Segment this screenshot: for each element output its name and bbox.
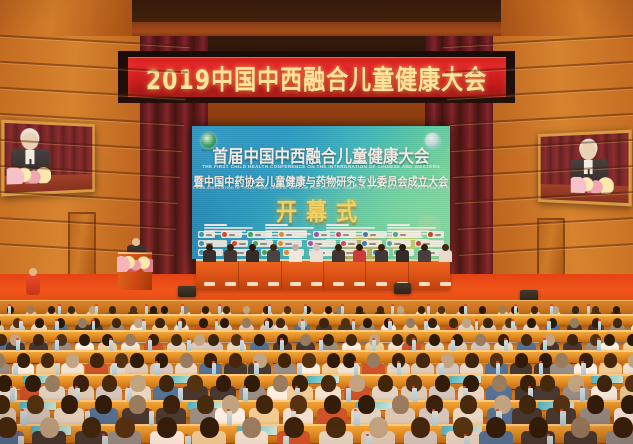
- panelist-head: [421, 244, 428, 251]
- water-bottle: [475, 321, 479, 330]
- audience-member-head: [229, 353, 242, 367]
- water-bottle: [597, 340, 601, 351]
- audience-member-head: [35, 318, 44, 328]
- panelist-nameplate: [204, 282, 215, 286]
- panelist-nameplate: [225, 282, 236, 286]
- panelist-head: [335, 244, 342, 251]
- panelist-nameplate: [376, 282, 387, 286]
- audience-member-head: [61, 395, 79, 414]
- water-bottle: [142, 321, 146, 330]
- water-bottle: [547, 436, 553, 444]
- audience-member-head: [66, 353, 79, 367]
- audience-member-head: [418, 306, 425, 314]
- water-bottle: [185, 436, 191, 444]
- panelist-head: [292, 244, 299, 251]
- audience-member-head: [462, 318, 471, 328]
- water-bottle: [148, 340, 152, 351]
- audience-member-head: [613, 318, 622, 328]
- credit-column-heading: [204, 224, 227, 226]
- water-bottle: [412, 340, 416, 351]
- overhead-banner: 2019中国中西融合儿童健康大会: [118, 51, 515, 103]
- credit-line: [387, 227, 436, 229]
- audience-member-head: [531, 306, 538, 314]
- water-bottle: [547, 321, 551, 330]
- audience-member-head: [369, 417, 389, 438]
- head-table-panelist: [352, 244, 367, 262]
- audience-member-head: [453, 417, 473, 438]
- audience-member-head: [33, 334, 44, 346]
- head-table-panelist: [417, 244, 432, 262]
- audience-member-head: [587, 395, 605, 414]
- audience-member-head: [449, 318, 458, 328]
- audience-member-head: [79, 334, 90, 346]
- water-bottle: [539, 363, 544, 375]
- audience-member: [319, 417, 353, 444]
- panelist-head: [442, 244, 449, 251]
- audience-member-head: [102, 375, 117, 392]
- aisle-staff-member: [26, 268, 40, 298]
- audience-member-head: [465, 353, 478, 367]
- audience-member-head: [341, 318, 350, 328]
- panelist-nameplate: [311, 282, 322, 286]
- audience-member-head: [349, 375, 364, 392]
- panelist-body: [246, 250, 259, 262]
- audience-member-head: [199, 318, 208, 328]
- credit-line: [265, 227, 314, 229]
- audience-member-head: [438, 306, 445, 314]
- head-table-panelist: [395, 244, 410, 262]
- audience-member-head: [82, 417, 102, 438]
- audience-member-head: [243, 306, 250, 314]
- audience-member-head: [115, 417, 135, 438]
- audience-member-head: [397, 306, 404, 314]
- main-led-screen: 中国中药协会 首届中国中西融合儿童健康大会 THE FIRST CHILD HE…: [192, 126, 450, 259]
- audience-member-head: [613, 417, 633, 438]
- audience-member-head: [68, 306, 75, 314]
- audience-member-head: [187, 375, 202, 392]
- water-bottle: [598, 321, 602, 330]
- audience-member-head: [411, 417, 431, 438]
- panelist-head: [249, 244, 256, 251]
- audience-member-head: [572, 306, 579, 314]
- water-bottle: [18, 436, 24, 444]
- audience-member-head: [109, 306, 116, 314]
- water-bottle: [341, 306, 344, 314]
- panelist-body: [418, 250, 431, 262]
- audience-member-head: [521, 334, 532, 346]
- water-bottle: [215, 321, 219, 330]
- audience-member-head: [392, 395, 410, 414]
- water-bottle: [511, 321, 515, 330]
- panelist-body: [375, 250, 388, 262]
- side-projection-screen-left: [1, 120, 95, 197]
- panelist-nameplate: [333, 282, 344, 286]
- audience-member-head: [130, 375, 145, 392]
- audience-desk-row: [0, 330, 633, 342]
- audience-member: [479, 417, 513, 444]
- podium-speaker-head: [132, 238, 140, 246]
- audience-member-head: [242, 417, 262, 438]
- water-bottle: [301, 321, 305, 330]
- audience-member: [564, 417, 598, 444]
- panelist-body: [289, 250, 302, 262]
- audience-member-head: [604, 353, 617, 367]
- water-bottle: [58, 306, 61, 314]
- audience-member-head: [180, 353, 193, 367]
- water-bottle: [304, 306, 307, 314]
- audience-member-head: [27, 306, 34, 314]
- audience-member-head: [416, 353, 429, 367]
- audience-member-head: [367, 353, 380, 367]
- water-bottle: [352, 321, 356, 330]
- water-bottle: [514, 306, 517, 314]
- podium-flower-arrangement: [117, 256, 153, 272]
- audience-member-head: [346, 334, 357, 346]
- audience-member-head: [627, 334, 633, 346]
- credit-column-heading: [265, 224, 288, 226]
- audience-member-head: [571, 417, 591, 438]
- audience-member-head: [27, 395, 45, 414]
- audience-member-head: [125, 334, 136, 346]
- head-table-panelist: [331, 244, 346, 262]
- audience-member-head: [254, 334, 265, 346]
- audience-member-head: [278, 353, 291, 367]
- water-bottle: [372, 340, 376, 351]
- water-bottle: [8, 306, 11, 314]
- conference-title-en: THE FIRST CHILD HEALTH CONFERENCE ON THE…: [192, 164, 450, 169]
- panelist-body: [353, 250, 366, 262]
- water-bottle: [550, 306, 553, 314]
- panelist-body: [439, 250, 452, 262]
- head-table-panelist: [438, 244, 453, 262]
- water-bottle: [297, 363, 302, 375]
- audience-member-head: [319, 318, 328, 328]
- table-seam: [323, 261, 324, 289]
- audience-member-head: [625, 375, 633, 392]
- audience-member: [235, 417, 269, 444]
- conference-subtitle-en: CHINA ASSOCIATION OF TRADITIONAL CHINESE…: [192, 186, 450, 190]
- water-bottle: [354, 411, 360, 426]
- audience-member-head: [220, 318, 229, 328]
- water-bottle: [145, 306, 148, 314]
- sponsor-logo: [335, 231, 356, 238]
- audience-member-head: [519, 395, 537, 414]
- audience-member-head: [529, 417, 549, 438]
- head-table-panelist: [245, 244, 260, 262]
- water-bottle: [427, 306, 430, 314]
- audience-member-head: [460, 395, 478, 414]
- panelist-body: [203, 250, 216, 262]
- water-bottle: [265, 321, 269, 330]
- audience-member-head: [325, 306, 332, 314]
- ceiling-inner-panel: [128, 0, 505, 24]
- audience-member-head: [242, 318, 251, 328]
- audience-member-head: [197, 395, 215, 414]
- sponsor-logo-row: [198, 231, 444, 238]
- audience-member: [32, 417, 66, 444]
- water-bottle: [187, 340, 191, 351]
- panelist-body: [224, 250, 237, 262]
- head-table-panelist: [223, 244, 238, 262]
- sponsor-logo: [198, 231, 215, 238]
- audience-member-head: [356, 306, 363, 314]
- water-bottle: [496, 363, 501, 375]
- audience-member-head: [429, 334, 440, 346]
- water-bottle: [397, 363, 402, 375]
- audience-member-head: [378, 375, 393, 392]
- audience-member-head: [130, 306, 137, 314]
- audience-member-head: [155, 318, 164, 328]
- panelist-head: [378, 244, 385, 251]
- head-table-panelist: [266, 244, 281, 262]
- head-table-panelist: [309, 244, 324, 262]
- sponsor-logo: [313, 231, 330, 238]
- audience-member-head: [377, 306, 384, 314]
- audience-member-head: [567, 334, 578, 346]
- panelist-nameplate: [290, 282, 301, 286]
- sponsor-logo: [392, 231, 421, 238]
- audience-member-head: [208, 334, 219, 346]
- audience-member-head: [200, 417, 220, 438]
- water-bottle: [112, 363, 117, 375]
- audience-member-head: [276, 318, 285, 328]
- water-bottle: [55, 321, 59, 330]
- head-table: [196, 259, 450, 289]
- sponsor-logo: [278, 231, 307, 238]
- audience-member: [404, 417, 438, 444]
- sponsor-logo: [362, 231, 387, 238]
- overhead-banner-plate: 2019中国中西融合儿童健康大会: [128, 57, 506, 97]
- water-bottle: [92, 321, 96, 330]
- audience-member-head: [363, 318, 372, 328]
- head-table-panelist: [202, 244, 217, 262]
- water-bottle: [102, 436, 108, 444]
- audience-member-head: [129, 395, 147, 414]
- audience-member-head: [300, 334, 311, 346]
- water-bottle: [155, 363, 160, 375]
- audience-member-head: [613, 306, 620, 314]
- water-bottle: [543, 340, 547, 351]
- water-bottle: [181, 306, 184, 314]
- audience-member-head: [216, 375, 231, 392]
- sponsor-logo: [247, 231, 272, 238]
- panelist-nameplate: [440, 282, 451, 286]
- audience-member-head: [326, 417, 346, 438]
- water-bottle: [95, 306, 98, 314]
- stage-floor-monitor: [394, 283, 411, 294]
- audience-member-head: [323, 334, 334, 346]
- water-bottle: [283, 436, 289, 444]
- credit-column-heading: [387, 224, 410, 226]
- audience-member-head: [321, 375, 336, 392]
- audience-member-head: [41, 353, 54, 367]
- audience-member-head: [171, 334, 182, 346]
- audience-member-head: [479, 306, 486, 314]
- panelist-body: [332, 250, 345, 262]
- water-bottle: [56, 363, 61, 375]
- audience-member-head: [112, 318, 121, 328]
- audience-member-head: [223, 306, 230, 314]
- audience-member-head: [592, 306, 599, 314]
- audience-member-head: [324, 395, 342, 414]
- water-bottle: [464, 306, 467, 314]
- audience-member-head: [570, 318, 579, 328]
- audience-member-head: [150, 306, 157, 314]
- panelist-nameplate: [268, 282, 279, 286]
- audience-member-head: [406, 318, 415, 328]
- audience-member-head: [78, 318, 87, 328]
- audience-member-head: [428, 318, 437, 328]
- audience-member-head: [157, 417, 177, 438]
- table-seam: [365, 261, 366, 289]
- audience-member-head: [628, 353, 633, 367]
- water-bottle: [354, 363, 359, 375]
- sponsor-logo: [221, 231, 242, 238]
- credit-line: [204, 227, 253, 229]
- audience-member-head: [159, 375, 174, 392]
- audience-member-head: [499, 306, 506, 314]
- table-seam: [281, 261, 282, 289]
- audience-member: [192, 417, 226, 444]
- audience-member-head: [163, 395, 181, 414]
- water-bottle: [13, 363, 18, 375]
- audience-member-head: [284, 306, 291, 314]
- water-bottle: [280, 340, 284, 351]
- audience-member-head: [95, 395, 113, 414]
- water-bottle: [581, 363, 586, 375]
- water-bottle: [268, 306, 271, 314]
- credit-column-heading: [326, 224, 349, 226]
- audience-member-head: [284, 417, 304, 438]
- panelist-nameplate: [354, 282, 365, 286]
- water-bottle: [16, 340, 20, 351]
- water-bottle: [218, 306, 221, 314]
- panelist-body: [310, 250, 323, 262]
- head-table-panelist: [374, 244, 389, 262]
- audience-member-head: [621, 395, 633, 414]
- audience-member-head: [597, 375, 612, 392]
- water-bottle: [319, 340, 323, 351]
- audience-member-head: [515, 353, 528, 367]
- water-bottle: [227, 411, 233, 426]
- water-bottle: [388, 321, 392, 330]
- overhead-banner-text: 2019中国中西融合儿童健康大会: [146, 58, 487, 97]
- audience-member-head: [527, 318, 536, 328]
- audience-member-head: [130, 353, 143, 367]
- sponsor-logo: [427, 231, 444, 238]
- audience-member-head: [604, 334, 615, 346]
- audience-member-head: [555, 353, 568, 367]
- stage-floor-monitor: [178, 286, 196, 297]
- water-bottle: [109, 340, 113, 351]
- water-bottle: [240, 340, 244, 351]
- audience-member-head: [475, 334, 486, 346]
- audience-member-head: [435, 375, 450, 392]
- panelist-nameplate: [419, 282, 430, 286]
- audience-member: [108, 417, 142, 444]
- water-bottle: [212, 363, 217, 375]
- water-bottle: [451, 340, 455, 351]
- audience-member-head: [0, 417, 17, 438]
- audience-member-head: [45, 375, 60, 392]
- audience-member-head: [483, 318, 492, 328]
- audience-member-head: [161, 306, 168, 314]
- audience-member-head: [202, 306, 209, 314]
- auditorium-photo: 2019中国中西融合儿童健康大会 中国中药协会 首届中国中西融合儿童健康大会 T…: [0, 0, 633, 444]
- water-bottle: [55, 340, 59, 351]
- audience-member-head: [486, 417, 506, 438]
- water-bottle: [254, 363, 259, 375]
- water-bottle: [587, 306, 590, 314]
- audience-seating: [0, 300, 633, 444]
- audience-member-head: [40, 417, 60, 438]
- audience-member: [150, 417, 184, 444]
- audience-member-head: [302, 353, 315, 367]
- audience-member-head: [492, 375, 507, 392]
- water-bottle: [464, 436, 470, 444]
- audience-member: [446, 417, 480, 444]
- audience-member-head: [358, 395, 376, 414]
- water-bottle: [424, 321, 428, 330]
- audience-member: [606, 417, 633, 444]
- water-bottle: [439, 363, 444, 375]
- audience-member: [277, 417, 311, 444]
- credit-line: [326, 227, 375, 229]
- audience-member-head: [17, 353, 30, 367]
- head-table-panelist: [288, 244, 303, 262]
- water-bottle: [178, 321, 182, 330]
- panelist-nameplate: [247, 282, 258, 286]
- water-bottle: [504, 340, 508, 351]
- panelist-head: [206, 244, 213, 251]
- audience-member-head: [48, 306, 55, 314]
- water-bottle: [366, 436, 372, 444]
- audience-member-head: [540, 375, 555, 392]
- water-bottle: [391, 306, 394, 314]
- audience-member-head: [90, 353, 103, 367]
- table-seam: [238, 261, 239, 289]
- audience-member-head: [256, 395, 274, 414]
- water-bottle: [19, 321, 23, 330]
- panelist-body: [267, 250, 280, 262]
